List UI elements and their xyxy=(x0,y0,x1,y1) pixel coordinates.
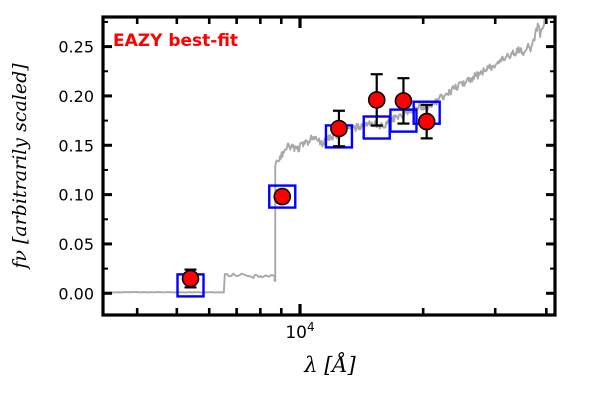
observed-photometry-point xyxy=(274,189,290,205)
y-tick-label: 0.10 xyxy=(58,186,94,205)
sed-plot: 0.000.050.100.150.200.25104EAZY best-fit… xyxy=(0,0,600,400)
axes-frame xyxy=(103,17,555,315)
figure-panel: 0.000.050.100.150.200.25104EAZY best-fit… xyxy=(0,0,600,400)
y-axis-label: fν [arbitrarily scaled] xyxy=(9,63,31,271)
y-tick-label: 0.00 xyxy=(58,284,94,303)
observed-photometry-point xyxy=(395,93,411,109)
y-tick-label: 0.20 xyxy=(58,87,94,106)
observed-photometry-point xyxy=(183,270,199,286)
observed-photometry-point xyxy=(369,92,385,108)
y-tick-label: 0.05 xyxy=(58,235,94,254)
x-tick-label: 104 xyxy=(285,320,314,343)
template-spectrum-line xyxy=(103,18,545,293)
observed-photometry-point xyxy=(331,121,347,137)
y-tick-label: 0.15 xyxy=(58,136,94,155)
x-axis-label: λ [Å] xyxy=(303,352,356,377)
observed-photometry-point xyxy=(419,114,435,130)
y-tick-label: 0.25 xyxy=(58,38,94,57)
eazy-best-fit-label: EAZY best-fit xyxy=(113,31,238,51)
